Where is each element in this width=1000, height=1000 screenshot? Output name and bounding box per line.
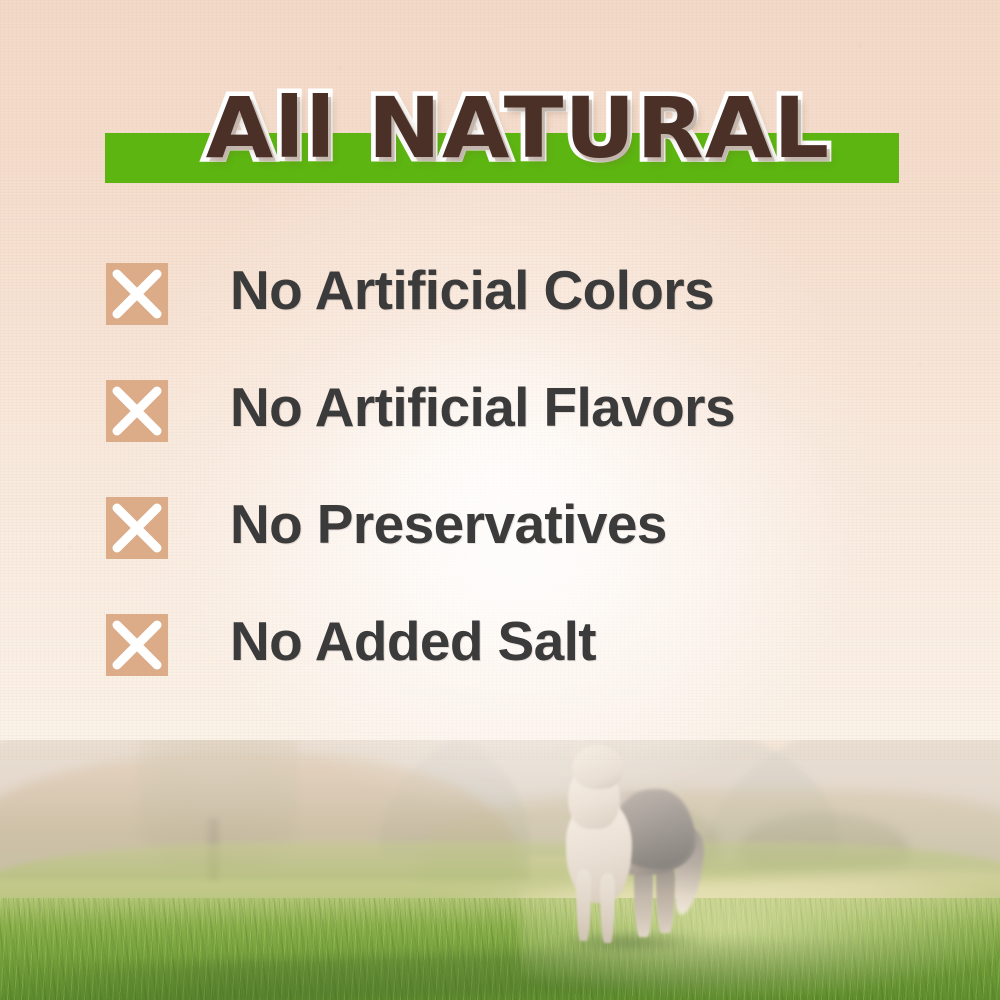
page-title: All NATURAL bbox=[105, 80, 931, 176]
panel-content: All NATURAL No Artificial Colors bbox=[0, 0, 1000, 1000]
x-mark-icon bbox=[106, 380, 168, 442]
all-natural-feature-panel: All NATURAL No Artificial Colors bbox=[0, 0, 1000, 1000]
x-mark-icon bbox=[106, 614, 168, 676]
list-item: No Artificial Flavors bbox=[106, 367, 926, 484]
x-mark-icon bbox=[106, 497, 168, 559]
list-item: No Added Salt bbox=[106, 601, 926, 718]
list-item: No Preservatives bbox=[106, 484, 926, 601]
x-mark-icon bbox=[106, 263, 168, 325]
claims-list: No Artificial Colors No Artificial Flavo… bbox=[106, 250, 926, 718]
list-item: No Artificial Colors bbox=[106, 250, 926, 367]
claim-label: No Artificial Flavors bbox=[230, 367, 735, 447]
claim-label: No Preservatives bbox=[230, 484, 667, 564]
claim-label: No Artificial Colors bbox=[230, 250, 714, 330]
claim-label: No Added Salt bbox=[230, 601, 596, 681]
headline-banner: All NATURAL bbox=[105, 80, 899, 185]
